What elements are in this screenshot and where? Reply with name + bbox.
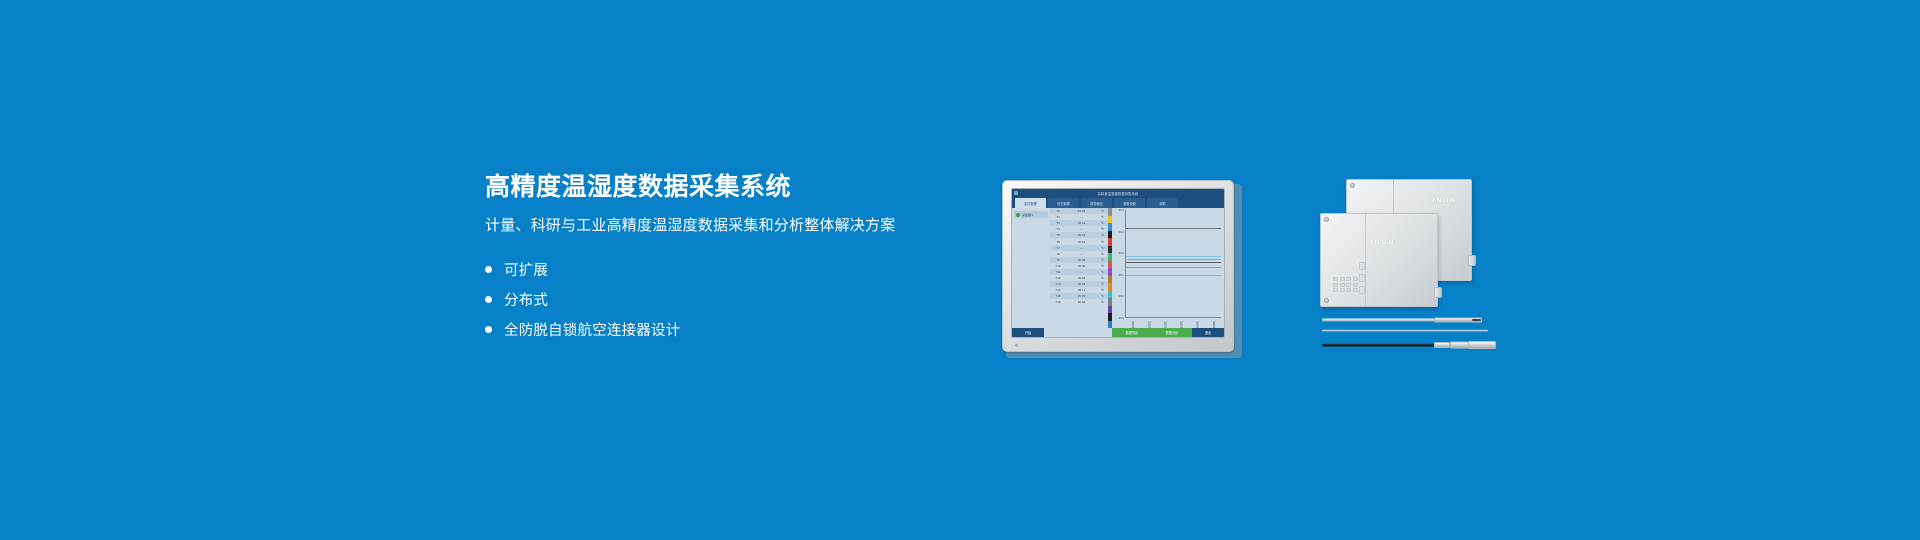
chart-traces xyxy=(1125,210,1221,318)
page-title: 高精度温湿度数据采集系统 xyxy=(485,174,945,202)
device-bezel: 高精度温湿度数据采集系统 实时数据 历史数据 报表输出 参数设置 帮助 采集器-… xyxy=(1002,180,1234,352)
bullet-dot-icon xyxy=(485,266,492,273)
channel-name: T5 xyxy=(1050,233,1066,237)
page-subtitle: 计量、科研与工业高精度温湿度数据采集和分析整体解决方案 xyxy=(485,217,945,235)
panel-pc-device: 高精度温湿度数据采集系统 实时数据 历史数据 报表输出 参数设置 帮助 采集器-… xyxy=(1002,180,1242,358)
channel-unit: ℃ xyxy=(1097,282,1108,286)
channel-table: T121.91℃T2---℃T326.19℃T4---℃T526.12℃T626… xyxy=(1050,208,1108,328)
channel-name: T16 xyxy=(1050,300,1066,304)
chart-trace xyxy=(1126,228,1221,229)
power-indicator-icon: ◄ xyxy=(1013,344,1018,349)
sidebar-item-label: 采集器-1 xyxy=(1022,213,1034,217)
chart-trace xyxy=(1126,267,1221,268)
channel-unit: ℃ xyxy=(1097,264,1108,268)
y-axis-tick: 25.9 xyxy=(1119,316,1124,320)
start-button[interactable]: 开始 xyxy=(1012,328,1044,337)
channel-value: --- xyxy=(1066,270,1097,274)
x-axis-tick: 10:20:00 xyxy=(1163,321,1166,328)
screw-icon xyxy=(1324,217,1329,222)
channel-value: 25.92 xyxy=(1066,276,1097,280)
app-tabbar: 实时数据 历史数据 报表输出 参数设置 帮助 xyxy=(1012,198,1224,208)
channel-unit: ℃ xyxy=(1097,258,1108,262)
brand-label: INON xyxy=(1433,197,1457,204)
y-axis-tick: 26.1 xyxy=(1119,273,1124,277)
screw-icon xyxy=(1350,183,1355,188)
chart-trace xyxy=(1126,275,1221,276)
channel-value: 26.01 xyxy=(1066,240,1097,244)
device-screen: 高精度温湿度数据采集系统 实时数据 历史数据 报表输出 参数设置 帮助 采集器-… xyxy=(1011,188,1225,338)
channel-value: --- xyxy=(1066,252,1097,256)
x-axis-tick: 10:10:00 xyxy=(1147,321,1150,328)
x-axis-tick: 10:00:00 xyxy=(1131,321,1134,328)
chart-trace xyxy=(1126,262,1221,263)
x-axis-tick: 10:30:00 xyxy=(1180,321,1183,328)
port-column xyxy=(1359,262,1365,294)
tab-settings[interactable]: 参数设置 xyxy=(1114,198,1145,208)
analyze-data-button[interactable]: 数据分析 xyxy=(1152,328,1192,337)
blue-humidity-probe xyxy=(1322,329,1488,332)
channel-name: T6 xyxy=(1050,240,1066,244)
hardware-group: INON INON xyxy=(1320,175,1500,365)
brand-label: INON xyxy=(1371,239,1395,246)
channel-value: 26.19 xyxy=(1066,221,1097,225)
channel-name: T14 xyxy=(1050,288,1066,292)
channel-value: 26.12 xyxy=(1066,233,1097,237)
tab-report-output[interactable]: 报表输出 xyxy=(1081,198,1112,208)
steel-temperature-probe xyxy=(1322,317,1494,322)
bullet-dot-icon xyxy=(485,326,492,333)
app-content: 采集器-1 T121.91℃T2---℃T326.19℃T4---℃T526.1… xyxy=(1012,208,1224,328)
screw-icon xyxy=(1324,298,1329,303)
channel-value: 25.94 xyxy=(1066,300,1097,304)
channel-name: T2 xyxy=(1050,215,1066,219)
chart-plot-area: 26.426.326.226.126.025.9 10:00:0010:10:0… xyxy=(1113,210,1221,328)
black-cable-probe xyxy=(1322,341,1498,348)
channel-unit: ℃ xyxy=(1097,221,1108,225)
trend-chart: 26.426.326.226.126.025.9 10:00:0010:10:0… xyxy=(1112,208,1224,328)
channel-name: T9 xyxy=(1050,258,1066,262)
channel-value: --- xyxy=(1066,246,1097,250)
feature-label: 全防脱自锁航空连接器设计 xyxy=(504,319,680,340)
y-axis-tick: 26.2 xyxy=(1119,251,1124,255)
channel-unit: ℃ xyxy=(1097,209,1108,213)
channel-value: 21.91 xyxy=(1066,209,1097,213)
channel-value: 26.08 xyxy=(1066,258,1097,262)
channel-name: T3 xyxy=(1050,221,1066,225)
export-data-button[interactable]: 数据导出 xyxy=(1112,328,1152,337)
channel-name: T12 xyxy=(1050,276,1066,280)
connector-icon xyxy=(1434,287,1442,298)
channel-name: T1 xyxy=(1050,209,1066,213)
channel-unit: ℃ xyxy=(1097,233,1108,237)
list-item: 分布式 xyxy=(485,285,945,315)
app-footer: 开始 数据导出 数据分析 退出 xyxy=(1012,328,1224,337)
y-axis-tick: 26.3 xyxy=(1119,230,1124,234)
channel-unit: ℃ xyxy=(1097,270,1108,274)
table-row[interactable]: T1625.94℃ xyxy=(1050,299,1108,305)
bullet-dot-icon xyxy=(485,296,492,303)
channel-unit: ℃ xyxy=(1097,252,1108,256)
x-axis-tick: 10:50:00 xyxy=(1212,321,1215,328)
y-axis-tick: 26.4 xyxy=(1119,208,1124,212)
y-axis-tick: 26.0 xyxy=(1119,294,1124,298)
channel-name: T7 xyxy=(1050,246,1066,250)
feature-label: 分布式 xyxy=(504,289,548,310)
x-axis-tick: 10:40:00 xyxy=(1196,321,1199,328)
status-dot-icon xyxy=(1016,213,1020,217)
tab-help[interactable]: 帮助 xyxy=(1147,198,1178,208)
vent-grid xyxy=(1333,277,1358,292)
chart-y-axis: 26.426.326.226.126.025.9 xyxy=(1113,210,1125,318)
channel-unit: ℃ xyxy=(1097,227,1108,231)
chart-x-axis: 10:00:0010:10:0010:20:0010:30:0010:40:00… xyxy=(1125,318,1221,328)
app-titlebar: 高精度温湿度数据采集系统 xyxy=(1012,189,1224,198)
sidebar-item-collector-1[interactable]: 采集器-1 xyxy=(1014,211,1048,218)
channel-unit: ℃ xyxy=(1097,288,1108,292)
channel-unit: ℃ xyxy=(1097,294,1108,298)
channel-unit: ℃ xyxy=(1097,240,1108,244)
channel-unit: ℃ xyxy=(1097,246,1108,250)
device-tree-sidebar: 采集器-1 xyxy=(1012,208,1050,328)
list-item: 可扩展 xyxy=(485,255,945,285)
channel-value: 26.11 xyxy=(1066,288,1097,292)
channel-name: T11 xyxy=(1050,270,1066,274)
channel-value: --- xyxy=(1066,227,1097,231)
channel-value: 25.90 xyxy=(1066,294,1097,298)
tab-history-data[interactable]: 历史数据 xyxy=(1048,198,1079,208)
app-title: 高精度温湿度数据采集系统 xyxy=(1098,191,1139,196)
data-logger-front: INON xyxy=(1320,213,1438,307)
channel-name: T10 xyxy=(1050,264,1066,268)
connector-icon xyxy=(1468,255,1476,266)
hero-text-block: 高精度温湿度数据采集系统 计量、科研与工业高精度温湿度数据采集和分析整体解决方案… xyxy=(485,174,945,345)
channel-value: --- xyxy=(1066,215,1097,219)
feature-label: 可扩展 xyxy=(504,259,548,280)
exit-button[interactable]: 退出 xyxy=(1192,328,1224,337)
channel-value: 26.28 xyxy=(1066,282,1097,286)
chart-trace xyxy=(1126,259,1221,260)
feature-list: 可扩展 分布式 全防脱自锁航空连接器设计 xyxy=(485,255,945,345)
channel-name: T8 xyxy=(1050,252,1066,256)
channel-unit: ℃ xyxy=(1097,215,1108,219)
footer-spacer xyxy=(1044,328,1112,337)
channel-unit: ℃ xyxy=(1097,300,1108,304)
channel-name: T13 xyxy=(1050,282,1066,286)
channel-unit: ℃ xyxy=(1097,276,1108,280)
channel-value: 26.00 xyxy=(1066,264,1097,268)
channel-name: T4 xyxy=(1050,227,1066,231)
tab-realtime-data[interactable]: 实时数据 xyxy=(1015,198,1046,208)
app-menu-icon[interactable] xyxy=(1014,191,1018,195)
channel-name: T15 xyxy=(1050,294,1066,298)
list-item: 全防脱自锁航空连接器设计 xyxy=(485,315,945,345)
chart-trace xyxy=(1126,256,1221,257)
